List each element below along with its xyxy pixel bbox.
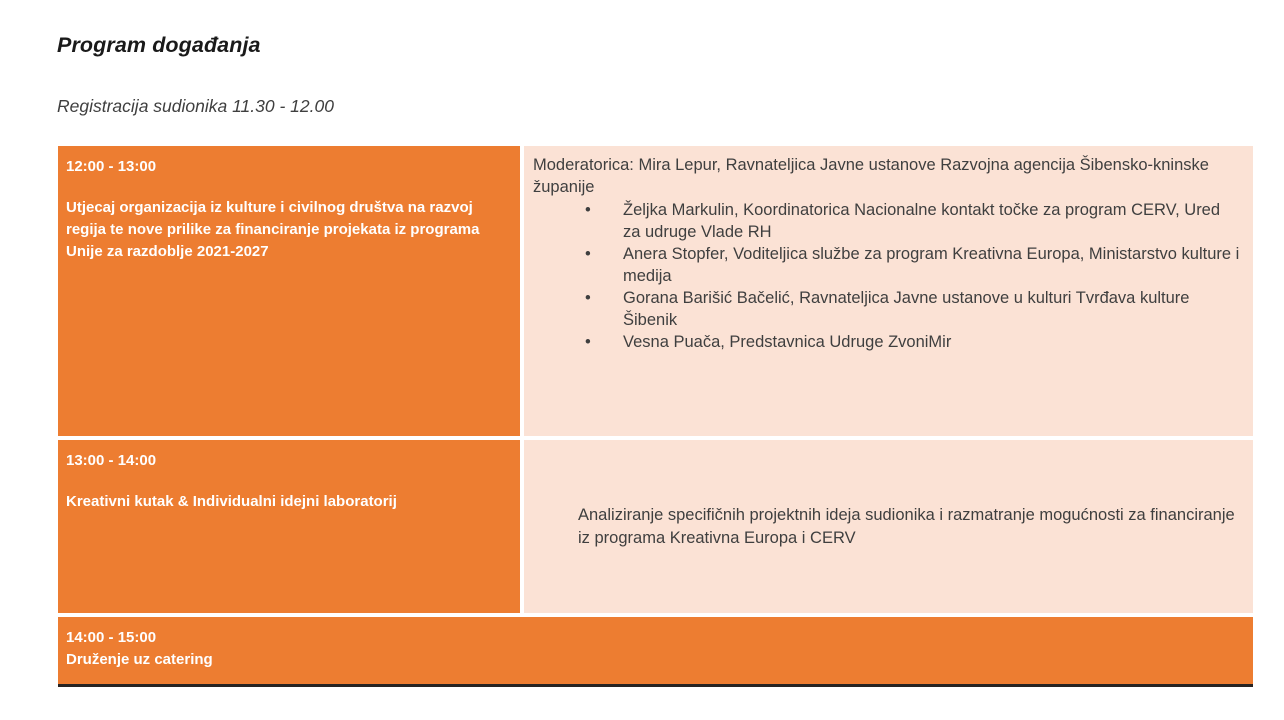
list-item: • Anera Stopfer, Voditeljica službe za p… [533,244,1241,288]
spacer [66,177,502,197]
row-1-participant-list: • Željka Markulin, Koordinatorica Nacion… [533,200,1241,354]
registration-note: Registracija sudionika 11.30 - 12.00 [57,96,334,117]
row-2-session-title: Kreativni kutak & Individualni idejni la… [66,491,502,513]
list-item: • Željka Markulin, Koordinatorica Nacion… [533,200,1241,244]
table-row-2-detail-cell: Analiziranje specifičnih projektnih idej… [524,440,1253,613]
table-row-3-full-width-cell: 14:00 - 15:00 Druženje uz catering [58,617,1253,687]
participant-text: Gorana Barišić Bačelić, Ravnateljica Jav… [623,289,1189,329]
row-2-time: 13:00 - 14:00 [66,452,502,471]
table-row-1-time-cell: 12:00 - 13:00 Utjecaj organizacija iz ku… [58,146,520,436]
bullet-icon: • [585,200,591,222]
bullet-icon: • [585,332,591,354]
table-row-1-detail-cell: Moderatorica: Mira Lepur, Ravnateljica J… [524,146,1253,436]
row-1-moderator: Moderatorica: Mira Lepur, Ravnateljica J… [533,155,1241,199]
participant-text: Željka Markulin, Koordinatorica Nacional… [623,201,1220,241]
bullet-icon: • [585,288,591,310]
row-1-session-title: Utjecaj organizacija iz kulture i civiln… [66,197,502,264]
row-2-description: Analiziranje specifičnih projektnih idej… [578,504,1235,549]
bullet-icon: • [585,244,591,266]
participant-text: Anera Stopfer, Voditeljica službe za pro… [623,245,1239,285]
page-title: Program događanja [57,33,261,58]
list-item: • Gorana Barišić Bačelić, Ravnateljica J… [533,288,1241,332]
list-item: • Vesna Puača, Predstavnica Udruge Zvoni… [533,332,1241,354]
document-page: Program događanja Registracija sudionika… [0,0,1284,720]
row-3-session-title: Druženje uz catering [66,649,1235,671]
table-row-2-time-cell: 13:00 - 14:00 Kreativni kutak & Individu… [58,440,520,613]
row-1-time: 12:00 - 13:00 [66,158,502,177]
participant-text: Vesna Puača, Predstavnica Udruge ZvoniMi… [623,333,951,351]
spacer [66,471,502,491]
row-3-time: 14:00 - 15:00 [66,627,1235,649]
